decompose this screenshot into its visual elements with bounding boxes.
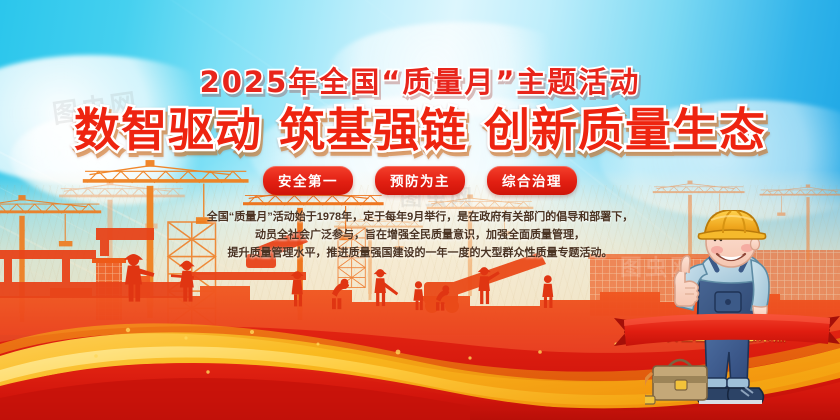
toolbox-icon (645, 360, 707, 404)
hard-hat-icon (698, 210, 765, 239)
poster-root: 图虫网 图虫网 图虫网 2025年全国“质量月”主题活动 数智驱动 筑基强链 创… (0, 0, 840, 420)
watermark-center: 图虫网 (400, 180, 475, 212)
ribbon-banner (622, 310, 832, 358)
